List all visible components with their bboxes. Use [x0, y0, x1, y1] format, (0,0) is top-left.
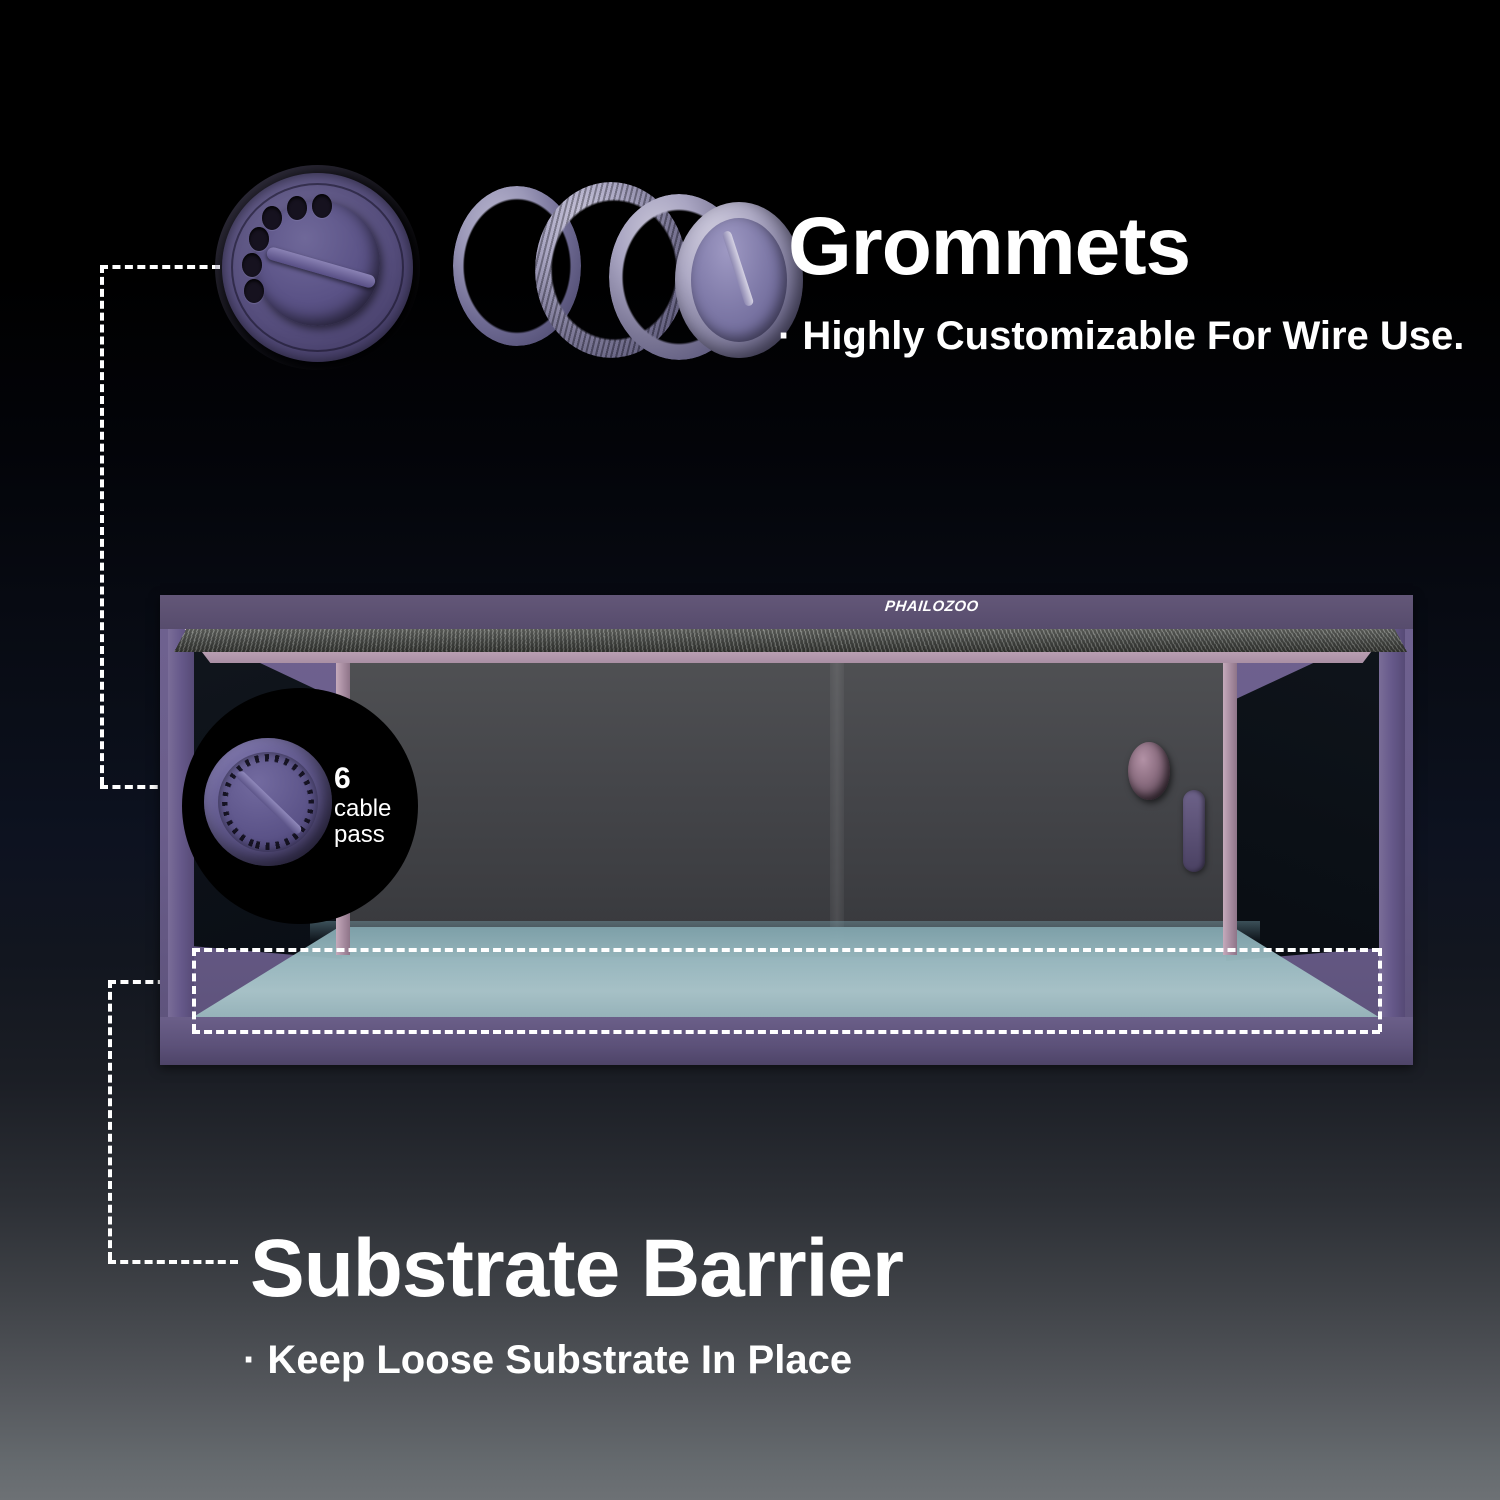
enclosure-mesh-screen [174, 626, 1407, 652]
enclosure-right-inner-post [1223, 655, 1237, 955]
enclosure-right-pillar [1379, 621, 1405, 1027]
grommet-cable-hole [287, 196, 307, 220]
leader-substrate-vertical [108, 980, 112, 1260]
cable-pass-callout: 6 cable pass [182, 688, 418, 924]
back-panel-seam [830, 661, 844, 957]
callout-count: 6 [334, 762, 391, 796]
grommet-cable-hole [262, 206, 282, 230]
grommet-cable-hole [249, 227, 269, 251]
leader-substrate-bottom [108, 1260, 238, 1264]
glass-substrate-floor [190, 927, 1382, 1019]
product-feature-graphic: Grommets · Highly Customizable For Wire … [0, 0, 1500, 1500]
callout-word-1: cable [334, 796, 391, 823]
callout-grommet-icon [204, 738, 332, 866]
side-grommet-icon [1128, 742, 1170, 800]
substrate-barrier-right-edge [1378, 948, 1382, 1032]
enclosure-top-bar: PHAILOZOO [160, 595, 1413, 629]
grommet-cable-hole [244, 279, 264, 303]
page-title-substrate: Substrate Barrier [250, 1228, 903, 1310]
subtitle-grommets: · Highly Customizable For Wire Use. [778, 314, 1464, 359]
leader-grommet-vertical [100, 265, 104, 785]
brand-logo: PHAILOZOO [884, 598, 979, 615]
grommet-cable-hole [312, 194, 332, 218]
leader-grommet-top [100, 265, 220, 269]
grommet-cable-hole [242, 253, 262, 277]
substrate-barrier-top-edge [192, 948, 1380, 952]
side-latch-handle[interactable] [1183, 790, 1205, 872]
substrate-barrier-left-edge [192, 948, 196, 1032]
callout-word-2: pass [334, 822, 391, 849]
grommet-parts-group [205, 160, 770, 385]
page-title-grommets: Grommets [788, 206, 1190, 288]
substrate-barrier-bottom-edge [192, 1030, 1380, 1034]
grommet-assembled-icon [215, 165, 420, 370]
enclosure-back-panel [340, 661, 1230, 957]
subtitle-substrate: · Keep Loose Substrate In Place [243, 1338, 852, 1383]
enclosure-bottom-bar [160, 1017, 1413, 1065]
callout-label: 6 cable pass [334, 762, 391, 849]
